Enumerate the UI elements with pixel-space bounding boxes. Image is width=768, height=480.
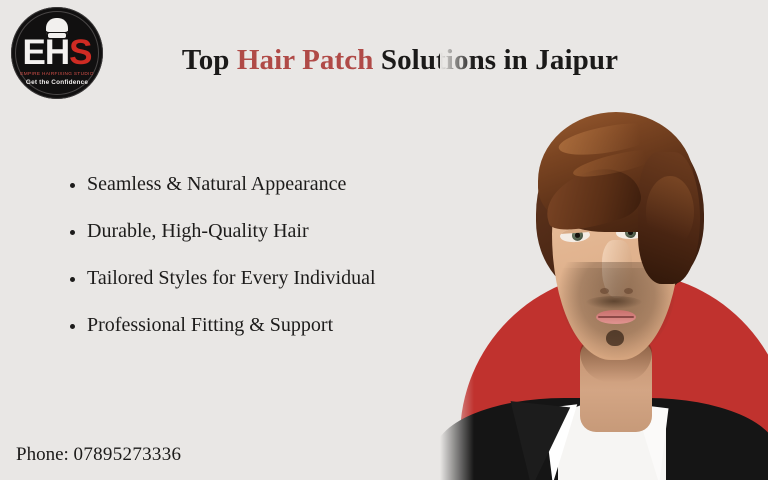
- phone-label: Phone:: [16, 444, 74, 465]
- list-item: Durable, High-Quality Hair: [66, 219, 466, 244]
- brand-logo[interactable]: EHS EMPIRE HAIRFIXING STUDIO Get the Con…: [11, 7, 103, 99]
- promo-banner: EHS EMPIRE HAIRFIXING STUDIO Get the Con…: [0, 0, 768, 480]
- phone-number: 07895273336: [74, 444, 182, 465]
- logo-initials: EHS: [11, 36, 103, 70]
- model-figure: [440, 0, 768, 480]
- logo-initials-primary: EH: [23, 33, 70, 72]
- hair-highlight: [646, 176, 694, 248]
- suit-lapel: [502, 401, 570, 480]
- list-item: Professional Fitting & Support: [66, 313, 466, 338]
- list-item: Tailored Styles for Every Individual: [66, 266, 466, 291]
- list-item: Seamless & Natural Appearance: [66, 172, 466, 197]
- logo-tagline-company: EMPIRE HAIRFIXING STUDIO: [11, 71, 103, 76]
- mustache: [586, 296, 642, 309]
- lips: [596, 310, 636, 324]
- logo-tagline-slogan: Get the Confidence: [11, 79, 103, 86]
- logo-initials-accent: S: [69, 33, 91, 72]
- contact-phone[interactable]: Phone: 07895273336: [16, 444, 181, 466]
- soul-patch: [606, 330, 624, 346]
- title-part-1: Top: [182, 44, 237, 76]
- title-accent: Hair Patch: [237, 44, 374, 76]
- model-photo: [440, 0, 768, 480]
- benefits-list: Seamless & Natural Appearance Durable, H…: [66, 172, 466, 360]
